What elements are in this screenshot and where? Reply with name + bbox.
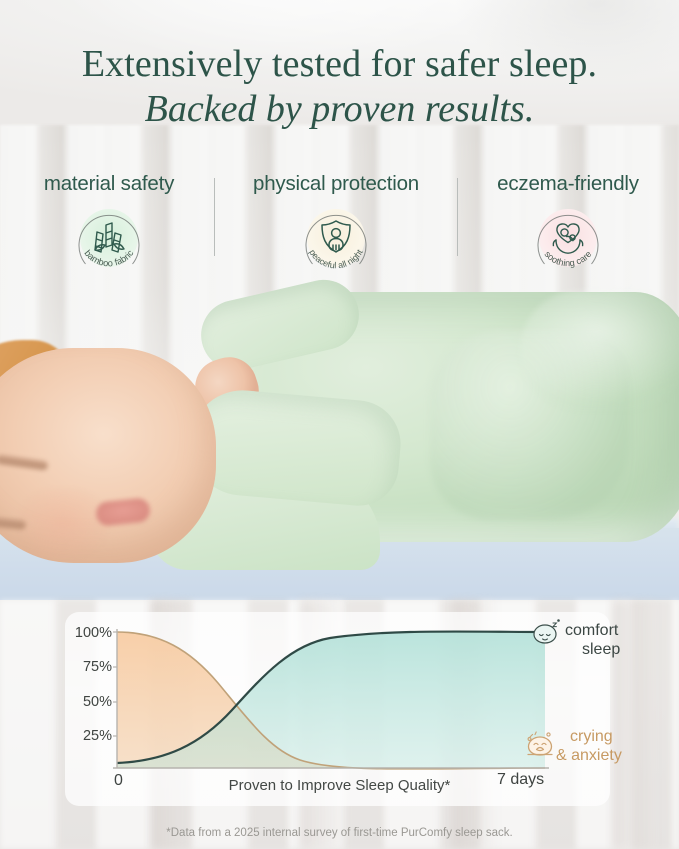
legend-item-crying-anxiety: crying & anxiety xyxy=(556,728,622,766)
legend-label-line-2: & anxiety xyxy=(556,747,622,766)
feature-material-safety: material safety bamboo fabric xyxy=(8,172,210,278)
footnote: *Data from a 2025 internal survey of fir… xyxy=(0,827,679,839)
badge-peaceful-all-night: peaceful all night xyxy=(298,202,374,278)
baby-cheek xyxy=(18,488,108,558)
legend-label-line-2: sleep xyxy=(582,641,620,660)
y-tick-label-50: 50% xyxy=(83,694,112,710)
legend-item-comfort-sleep: comfort sleep xyxy=(565,622,620,660)
baby-mouth xyxy=(95,497,151,527)
feature-eczema-friendly: eczema-friendly soothing care xyxy=(465,172,671,278)
feature-row: material safety bamboo fabric xyxy=(0,172,679,287)
headline-line-2: Backed by proven results. xyxy=(0,89,679,130)
sleep-quality-chart: 100% 75% 50% 25% 0 7 days comfort sleep … xyxy=(0,605,679,805)
feature-divider xyxy=(457,178,458,256)
sleeping-baby-face-icon xyxy=(534,619,560,643)
bamboo-stalks-icon xyxy=(85,214,133,262)
y-axis-labels: 100% 75% 50% 25% xyxy=(62,605,112,805)
feature-label: eczema-friendly xyxy=(465,172,671,196)
feature-label: material safety xyxy=(8,172,210,196)
baby-eye xyxy=(0,454,48,470)
legend-label-line-1: comfort xyxy=(565,622,620,641)
y-tick-label-25: 25% xyxy=(83,728,112,744)
baby-figure xyxy=(0,300,679,560)
legend-label-line-1: crying xyxy=(570,728,622,747)
badge-soothing-care: soothing care xyxy=(530,202,606,278)
y-tick-label-100: 100% xyxy=(75,625,112,641)
badge-bamboo-fabric: bamboo fabric xyxy=(71,202,147,278)
feature-label: physical protection xyxy=(226,172,446,196)
feature-divider xyxy=(214,178,215,256)
sleep-sack-fold xyxy=(520,290,679,410)
chart-title: Proven to Improve Sleep Quality* xyxy=(0,777,679,794)
headline: Extensively tested for safer sleep. Back… xyxy=(0,44,679,130)
headline-line-1: Extensively tested for safer sleep. xyxy=(0,44,679,85)
shield-baby-icon xyxy=(312,214,360,262)
hands-holding-baby-icon xyxy=(544,214,592,262)
feature-physical-protection: physical protection peaceful all night xyxy=(226,172,446,278)
page-root: Extensively tested for safer sleep. Back… xyxy=(0,0,679,849)
y-tick-label-75: 75% xyxy=(83,659,112,675)
baby-head xyxy=(0,348,216,563)
